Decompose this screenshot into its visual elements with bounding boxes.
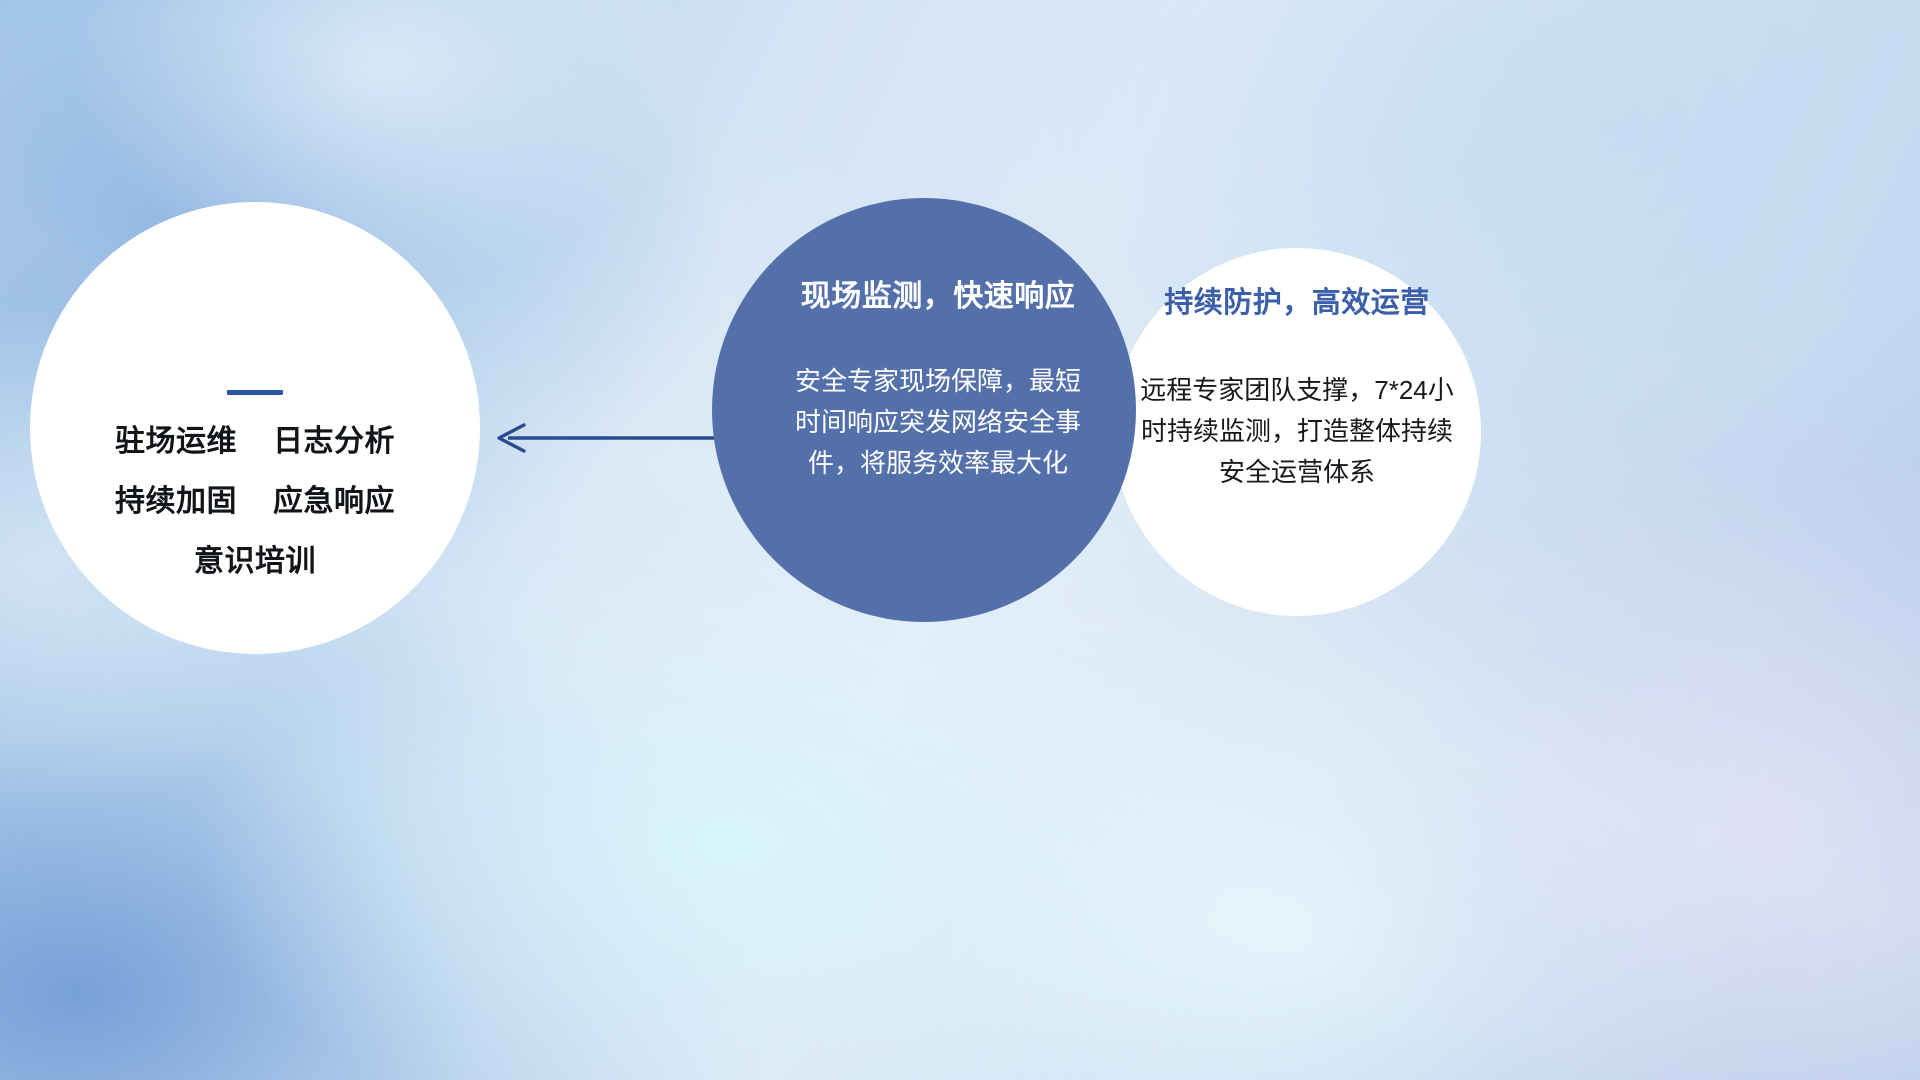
keyword-row: 驻场运维 日志分析 xyxy=(115,427,395,457)
arrow-left-icon xyxy=(480,408,720,468)
service-keywords-node[interactable]: 驻场运维 日志分析 持续加固 应急响应 意识培训 xyxy=(30,202,480,654)
continuous-protection-body: 远程专家团队支撑，7*24小时持续监测，打造整体持续安全运营体系 xyxy=(1132,370,1462,493)
keyword-row: 意识培训 xyxy=(194,547,316,577)
horizontal-dash-icon xyxy=(227,390,283,395)
keyword-chip[interactable]: 应急响应 xyxy=(273,487,395,517)
onsite-monitoring-node[interactable]: 现场监测，快速响应 安全专家现场保障，最短时间响应突发网络安全事件，将服务效率最… xyxy=(712,198,1136,622)
keyword-row: 持续加固 应急响应 xyxy=(115,487,395,517)
slide-canvas: 驻场运维 日志分析 持续加固 应急响应 意识培训 现场监测，快速响应 安全专家现… xyxy=(0,0,1920,1080)
onsite-monitoring-body: 安全专家现场保障，最短时间响应突发网络安全事件，将服务效率最大化 xyxy=(788,361,1088,484)
keyword-chip[interactable]: 驻场运维 xyxy=(115,427,237,457)
keyword-chip[interactable]: 持续加固 xyxy=(115,487,237,517)
keyword-chip[interactable]: 日志分析 xyxy=(273,427,395,457)
continuous-protection-title: 持续防护，高效运营 xyxy=(1164,288,1430,320)
keyword-rows: 驻场运维 日志分析 持续加固 应急响应 意识培训 xyxy=(115,427,395,577)
continuous-protection-node[interactable]: 持续防护，高效运营 远程专家团队支撑，7*24小时持续监测，打造整体持续安全运营… xyxy=(1113,248,1481,616)
onsite-monitoring-title: 现场监测，快速响应 xyxy=(801,280,1076,313)
keyword-chip[interactable]: 意识培训 xyxy=(194,547,316,577)
